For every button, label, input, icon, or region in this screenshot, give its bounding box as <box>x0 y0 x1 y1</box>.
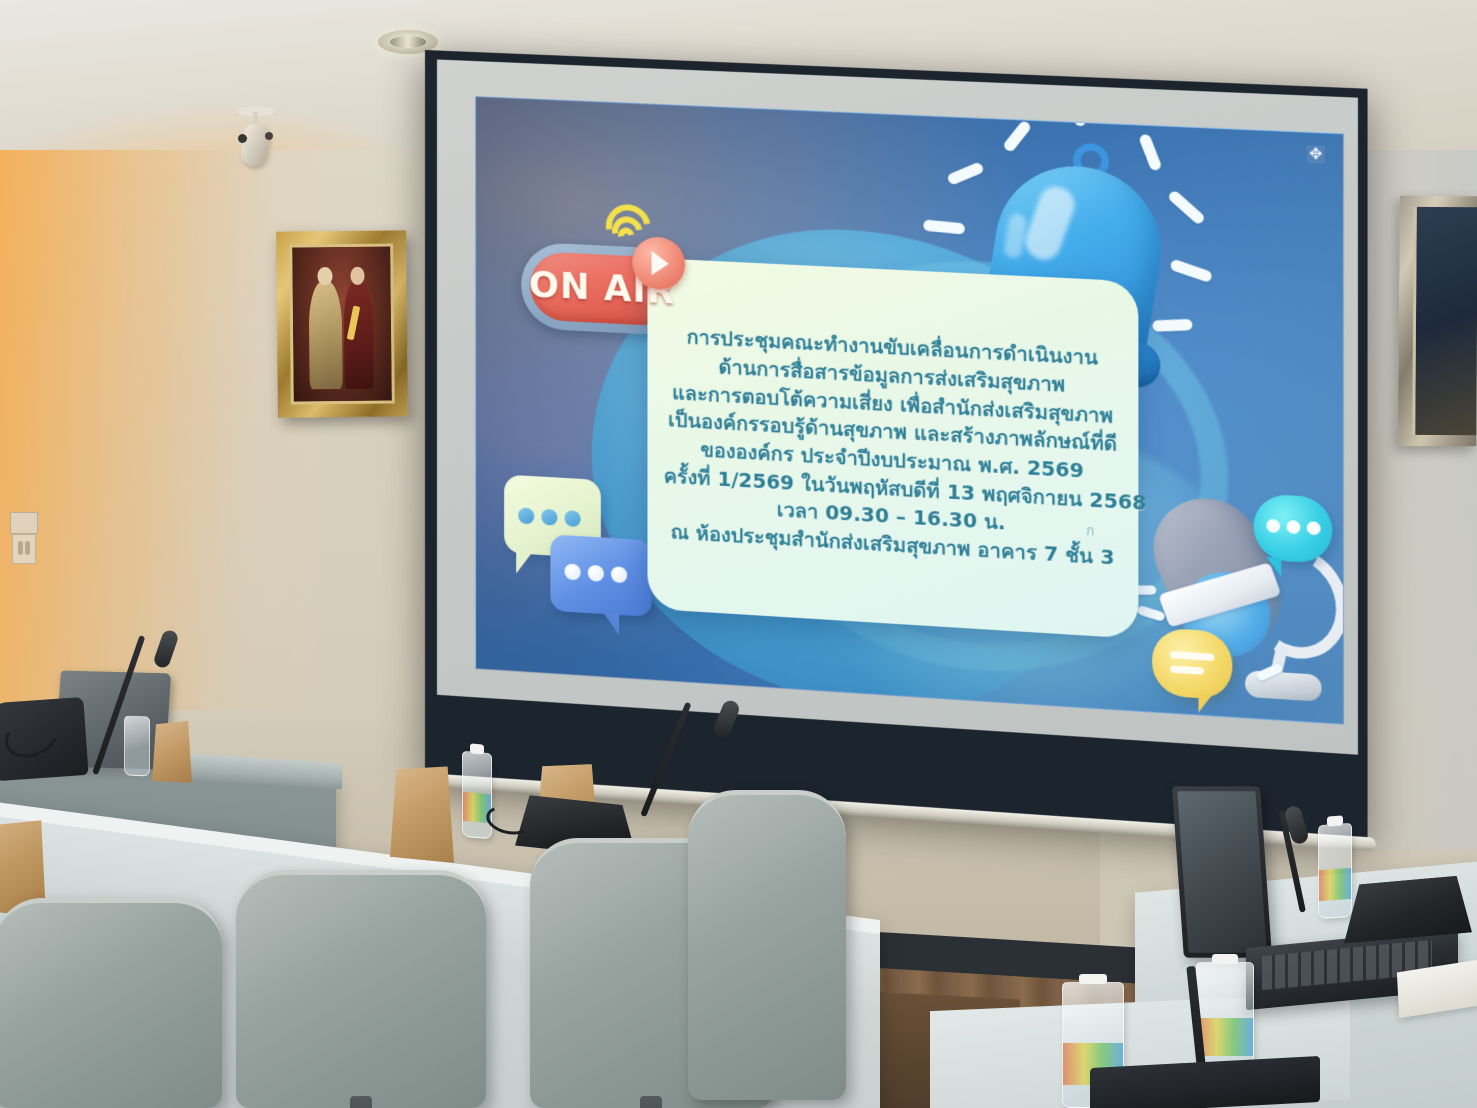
announcement-card: การประชุมคณะทำงานขับเคลื่อนการดำเนินงาน … <box>647 258 1138 639</box>
slide-corner-marker-icon: ✥ <box>1307 145 1325 163</box>
wall-warm-light <box>0 150 320 710</box>
chat-bubble-icon <box>550 534 651 617</box>
projection-screen: ✥ ON AIR <box>425 50 1368 844</box>
microphone-icon <box>1144 487 1344 721</box>
spotlight-knob <box>265 132 273 140</box>
royal-portrait-frame <box>276 230 408 417</box>
spotlight-knob <box>238 134 247 143</box>
card-corner-mark: ก <box>1086 520 1094 542</box>
laptop <box>1172 786 1272 958</box>
wall-outlet-icon <box>12 534 36 564</box>
list-bubble-icon <box>1152 627 1232 700</box>
paper-bag <box>152 719 192 783</box>
water-bottle <box>124 716 150 777</box>
meeting-chair <box>236 870 486 1108</box>
wall-outlet-icon <box>10 512 38 534</box>
meeting-chair <box>688 790 846 1100</box>
announcement-text: การประชุมคณะทำงานขับเคลื่อนการดำเนินงาน … <box>664 322 1122 573</box>
presentation-slide: ✥ ON AIR <box>475 96 1344 725</box>
portrait-figure <box>308 281 342 389</box>
paper-bag <box>390 761 454 863</box>
meeting-room-photo: ✥ ON AIR <box>0 0 1477 1108</box>
water-bottle <box>462 751 492 840</box>
ornate-silver-frame <box>1398 196 1477 447</box>
water-bottle <box>1318 823 1352 919</box>
projection-screen-surface: ✥ ON AIR <box>437 59 1358 754</box>
meeting-chair <box>0 898 222 1108</box>
microphone-base-unit <box>1344 874 1472 943</box>
